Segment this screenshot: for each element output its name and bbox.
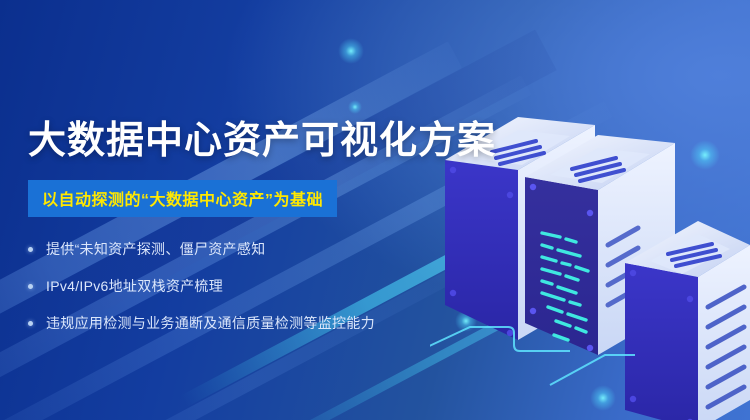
glow-particle	[348, 100, 362, 114]
list-item: 违规应用检测与业务通断及通信质量检测等监控能力	[28, 313, 448, 333]
subtitle-badge: 以自动探测的“大数据中心资产”为基础	[28, 180, 337, 217]
bullet-dot-icon	[28, 247, 33, 252]
server-rack-illustration	[430, 55, 750, 420]
subtitle-badge-label: 以自动探测的“大数据中心资产”为基础	[42, 192, 323, 209]
list-item: IPv4/IPv6地址双栈资产梳理	[28, 276, 448, 296]
list-item-label: 提供“未知资产探测、僵尸资产感知	[46, 239, 265, 259]
list-item-label: IPv4/IPv6地址双栈资产梳理	[46, 276, 223, 296]
promo-banner: 大数据中心资产可视化方案 以自动探测的“大数据中心资产”为基础 提供“未知资产探…	[0, 0, 750, 420]
bullet-dot-icon	[28, 284, 33, 289]
glow-particle	[338, 38, 364, 64]
bullet-dot-icon	[28, 321, 33, 326]
list-item: 提供“未知资产探测、僵尸资产感知	[28, 239, 448, 259]
list-item-label: 违规应用检测与业务通断及通信质量检测等监控能力	[46, 313, 375, 333]
page-title: 大数据中心资产可视化方案	[28, 118, 448, 164]
banner-text-column: 大数据中心资产可视化方案 以自动探测的“大数据中心资产”为基础 提供“未知资产探…	[28, 118, 448, 350]
feature-list: 提供“未知资产探测、僵尸资产感知 IPv4/IPv6地址双栈资产梳理 违规应用检…	[28, 239, 448, 333]
